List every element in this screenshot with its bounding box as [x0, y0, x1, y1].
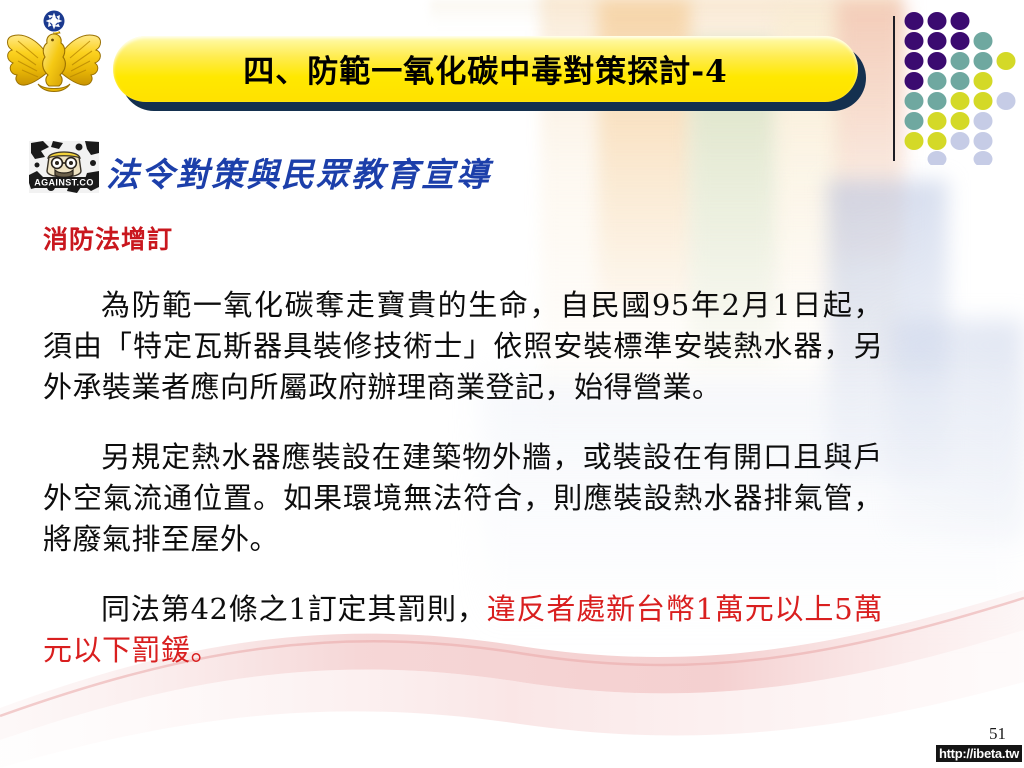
- svg-text:AGAINST.CO: AGAINST.CO: [34, 178, 94, 188]
- slide-canvas: 四、防範一氧化碳中毒對策探討-4: [0, 0, 1024, 768]
- background-watermark-blue-panel-lower: [890, 320, 1024, 540]
- header-vertical-divider: [893, 16, 895, 161]
- source-url-watermark: http://ibeta.tw: [936, 745, 1022, 762]
- title-banner-pill: 四、防範一氧化碳中毒對策探討-4: [113, 36, 858, 102]
- penalty-lead-text: 同法第42條之1訂定其罰則，: [101, 592, 487, 626]
- body-paragraph-3: 同法第42條之1訂定其罰則，違反者處新台幣1萬元以上5萬元以下罰鍰。: [43, 589, 883, 671]
- slide-body: 消防法增訂 為防範一氧化碳奪走寶貴的生命，自民國95年2月1日起，須由「特定瓦斯…: [43, 224, 883, 700]
- slide-title-banner: 四、防範一氧化碳中毒對策探討-4: [113, 36, 858, 102]
- page-number: 51: [989, 724, 1006, 744]
- body-paragraph-1: 為防範一氧化碳奪走寶貴的生命，自民國95年2月1日起，須由「特定瓦斯器具裝修技術…: [43, 285, 883, 408]
- against-co-badge-icon: AGAINST.CO: [29, 141, 99, 193]
- section-subtitle: 法令對策與民眾教育宣導: [106, 148, 491, 196]
- decorative-dot-grid: [903, 10, 1021, 165]
- fire-agency-phoenix-emblem: [4, 10, 104, 105]
- body-paragraph-2: 另規定熱水器應裝設在建築物外牆，或裝設在有開口且與戶外空氣流通位置。如果環境無法…: [43, 437, 883, 560]
- section-heading: 消防法增訂: [43, 224, 883, 256]
- page-title: 四、防範一氧化碳中毒對策探討-4: [243, 46, 727, 91]
- background-watermark-top-band: [430, 0, 900, 26]
